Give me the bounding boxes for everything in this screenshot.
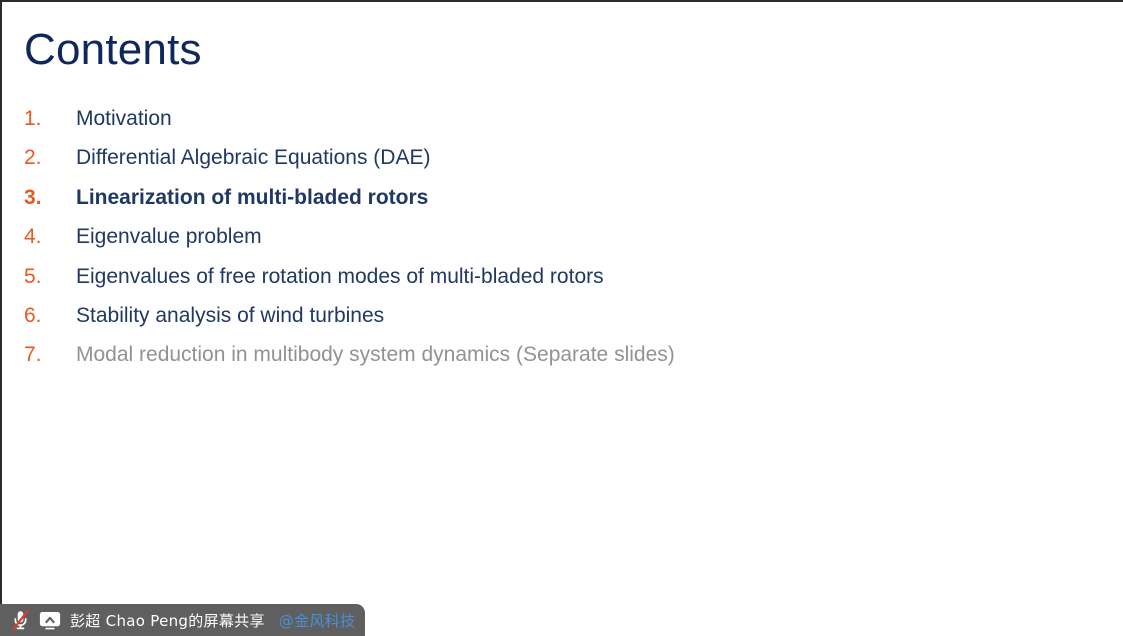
- list-item-current-section[interactable]: 3. Linearization of multi-bladed rotors: [24, 185, 1074, 224]
- page-title: Contents: [24, 26, 202, 74]
- list-item[interactable]: 5. Eigenvalues of free rotation modes of…: [24, 264, 1074, 303]
- screen-share-status-bar: 彭超 Chao Peng的屏幕共享 @金风科技: [0, 604, 365, 636]
- screen-share-icon[interactable]: [39, 611, 61, 630]
- list-item[interactable]: 4. Eigenvalue problem: [24, 224, 1074, 263]
- slide-frame-top-border: [0, 0, 1123, 2]
- list-item-label: Eigenvalues of free rotation modes of mu…: [76, 264, 604, 290]
- microphone-muted-icon[interactable]: [11, 609, 30, 631]
- list-item[interactable]: 6. Stability analysis of wind turbines: [24, 303, 1074, 342]
- screen-share-presenter-label: 彭超 Chao Peng的屏幕共享: [70, 610, 265, 631]
- list-item-label: Modal reduction in multibody system dyna…: [76, 342, 675, 368]
- contents-list: 1. Motivation 2. Differential Algebraic …: [24, 106, 1074, 382]
- list-item-label: Stability analysis of wind turbines: [76, 303, 384, 329]
- list-item-number: 2.: [24, 145, 76, 171]
- slide-frame-left-border: [0, 0, 2, 604]
- list-item-number: 3.: [24, 185, 76, 211]
- list-item[interactable]: 7. Modal reduction in multibody system d…: [24, 342, 1074, 381]
- list-item-label: Linearization of multi-bladed rotors: [76, 185, 428, 211]
- list-item[interactable]: 1. Motivation: [24, 106, 1074, 145]
- list-item-number: 4.: [24, 224, 76, 250]
- list-item-number: 1.: [24, 106, 76, 132]
- list-item-label: Motivation: [76, 106, 172, 132]
- list-item[interactable]: 2. Differential Algebraic Equations (DAE…: [24, 145, 1074, 184]
- list-item-number: 5.: [24, 264, 76, 290]
- list-item-label: Differential Algebraic Equations (DAE): [76, 145, 430, 171]
- screen-share-handle-label: @金风科技: [279, 610, 356, 631]
- slide-canvas: Contents 1. Motivation 2. Differential A…: [0, 0, 1123, 636]
- list-item-label: Eigenvalue problem: [76, 224, 262, 250]
- list-item-number: 7.: [24, 342, 76, 368]
- list-item-number: 6.: [24, 303, 76, 329]
